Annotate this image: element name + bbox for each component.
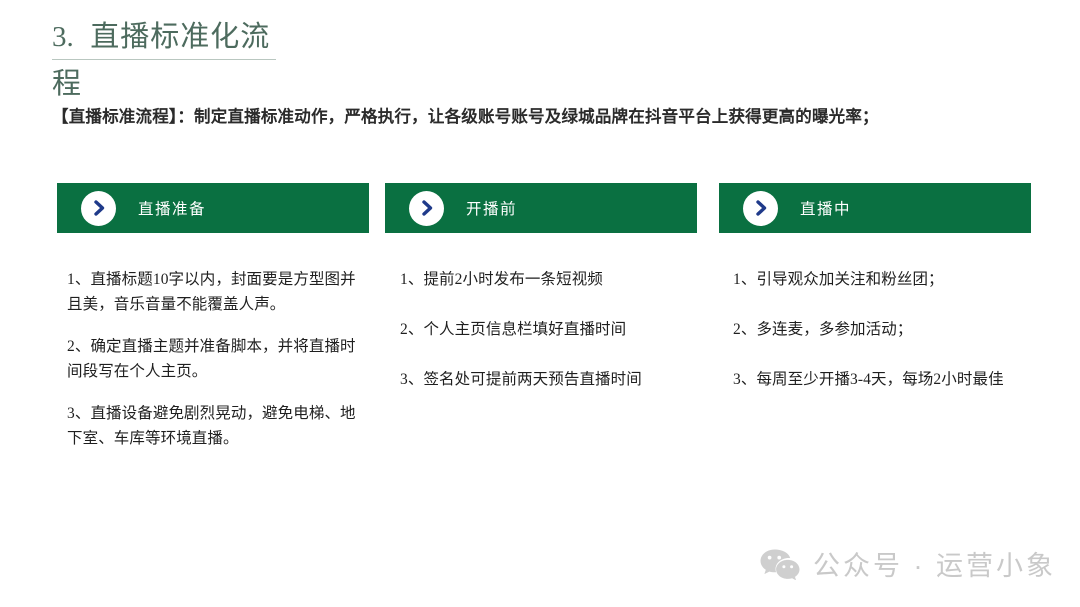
banner-before-live[interactable]: 开播前 bbox=[385, 183, 697, 233]
page-subtitle: 【直播标准流程】：制定直播标准动作，严格执行，让各级账号账号及绿城品牌在抖音平台… bbox=[52, 104, 1052, 130]
list-item: 3、直播设备避免剧烈晃动，避免电梯、地下室、车库等环境直播。 bbox=[67, 401, 369, 451]
list-item: 1、引导观众加关注和粉丝团； bbox=[733, 267, 1031, 292]
chevron-right-circle-icon bbox=[409, 191, 444, 226]
list-item: 2、多连麦，多参加活动； bbox=[733, 317, 1031, 342]
list-item: 2、确定直播主题并准备脚本，并将直播时间段写在个人主页。 bbox=[67, 334, 369, 384]
process-column-before-live: 开播前 1、提前2小时发布一条短视频 2、个人主页信息栏填好直播时间 3、签名处… bbox=[385, 183, 697, 468]
list-item: 3、签名处可提前两天预告直播时间 bbox=[400, 367, 697, 392]
list-item: 1、直播标题10字以内，封面要是方型图并且美，音乐音量不能覆盖人声。 bbox=[67, 267, 369, 317]
page-title: 3. 直播标准化流 程 bbox=[52, 18, 452, 104]
process-column-during-live: 直播中 1、引导观众加关注和粉丝团； 2、多连麦，多参加活动； 3、每周至少开播… bbox=[719, 183, 1031, 468]
page-title-line-2: 程 bbox=[52, 64, 452, 104]
banner-label-prep: 直播准备 bbox=[138, 197, 206, 219]
page-title-line-1: 3. 直播标准化流 bbox=[52, 18, 276, 60]
banner-prep[interactable]: 直播准备 bbox=[57, 183, 369, 233]
banner-during-live[interactable]: 直播中 bbox=[719, 183, 1031, 233]
watermark: 公众号 · 运营小象 bbox=[759, 544, 1056, 583]
banner-label-before-live: 开播前 bbox=[466, 197, 517, 219]
banner-label-during-live: 直播中 bbox=[800, 197, 851, 219]
body-list-before-live: 1、提前2小时发布一条短视频 2、个人主页信息栏填好直播时间 3、签名处可提前两… bbox=[385, 267, 697, 392]
process-column-prep: 直播准备 1、直播标题10字以内，封面要是方型图并且美，音乐音量不能覆盖人声。 … bbox=[57, 183, 369, 468]
list-item: 2、个人主页信息栏填好直播时间 bbox=[400, 317, 697, 342]
list-item: 3、每周至少开播3-4天，每场2小时最佳 bbox=[733, 367, 1031, 392]
page-title-number: 3. bbox=[52, 21, 74, 53]
watermark-text: 公众号 · 运营小象 bbox=[813, 544, 1056, 583]
body-list-prep: 1、直播标题10字以内，封面要是方型图并且美，音乐音量不能覆盖人声。 2、确定直… bbox=[57, 267, 369, 451]
page-title-text: 直播标准化流 bbox=[90, 21, 270, 53]
slide-canvas: 3. 直播标准化流 程 【直播标准流程】：制定直播标准动作，严格执行，让各级账号… bbox=[0, 0, 1080, 607]
chevron-right-circle-icon bbox=[81, 191, 116, 226]
chevron-right-circle-icon bbox=[743, 191, 778, 226]
body-list-during-live: 1、引导观众加关注和粉丝团； 2、多连麦，多参加活动； 3、每周至少开播3-4天… bbox=[719, 267, 1031, 392]
list-item: 1、提前2小时发布一条短视频 bbox=[400, 267, 697, 292]
process-columns: 直播准备 1、直播标题10字以内，封面要是方型图并且美，音乐音量不能覆盖人声。 … bbox=[57, 183, 1025, 468]
wechat-logo-icon bbox=[759, 548, 801, 580]
